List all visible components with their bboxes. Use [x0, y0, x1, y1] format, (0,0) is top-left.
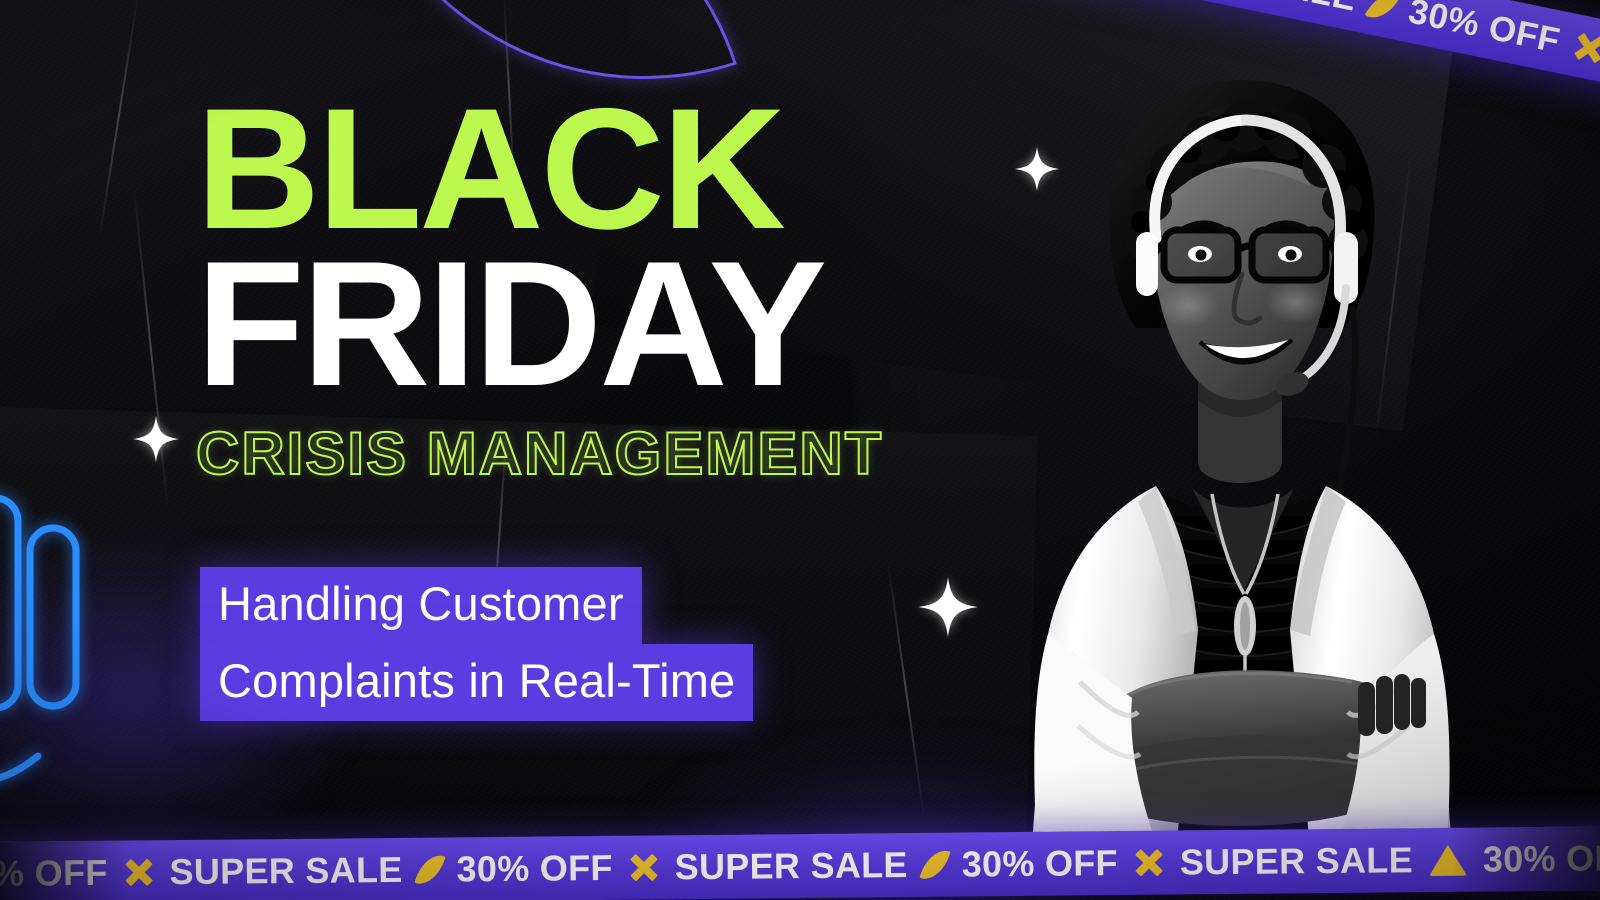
headline-friday: FRIDAY [196, 246, 996, 403]
support-agent-photo [960, 70, 1520, 870]
ribbon-segment: SUPER SALE [624, 844, 919, 889]
ribbon-segment: 30% OFF [920, 842, 1131, 886]
neon-hand-outline [0, 498, 164, 828]
ribbon-label: SUPER SALE [662, 844, 919, 888]
ribbon-label: SUPER SALE [1168, 839, 1425, 883]
leaf-icon [414, 850, 445, 889]
x-icon [1572, 30, 1600, 65]
x-icon [1134, 848, 1164, 878]
x-icon [629, 852, 659, 882]
ribbon-segment: 30% OFF [1425, 837, 1600, 881]
ribbon-label: 30% OFF [950, 842, 1131, 886]
subtitle-line-1: Handling Customer [200, 567, 642, 644]
headline-crisis-management: CRISIS MANAGEMENT [196, 419, 996, 488]
headline-black: BLACK [196, 96, 996, 244]
ribbon-segment: SUPER SALE [119, 849, 414, 894]
banner-canvas: BLACK FRIDAY CRISIS MANAGEMENT Handling … [0, 0, 1600, 900]
x-icon [123, 857, 153, 887]
tri-icon [1429, 844, 1467, 875]
subtitle-block: Handling Customer Complaints in Real-Tim… [200, 567, 753, 721]
ribbon-label: 30% OFF [444, 847, 625, 891]
sparkle-icon [132, 415, 180, 463]
ribbon-label: 30% OFF [1471, 837, 1600, 881]
ribbon-segment: 30% OFF [414, 847, 625, 891]
ribbon-label: SUPER SALE [157, 849, 414, 893]
headline-block: BLACK FRIDAY CRISIS MANAGEMENT [196, 96, 996, 488]
leaf-icon [919, 845, 950, 884]
subtitle-line-2: Complaints in Real-Time [200, 644, 753, 721]
ribbon-segment: % OFF [0, 852, 120, 895]
ribbon-segment: SUPER SALE [1130, 839, 1425, 884]
ribbon-label: % OFF [0, 852, 120, 895]
